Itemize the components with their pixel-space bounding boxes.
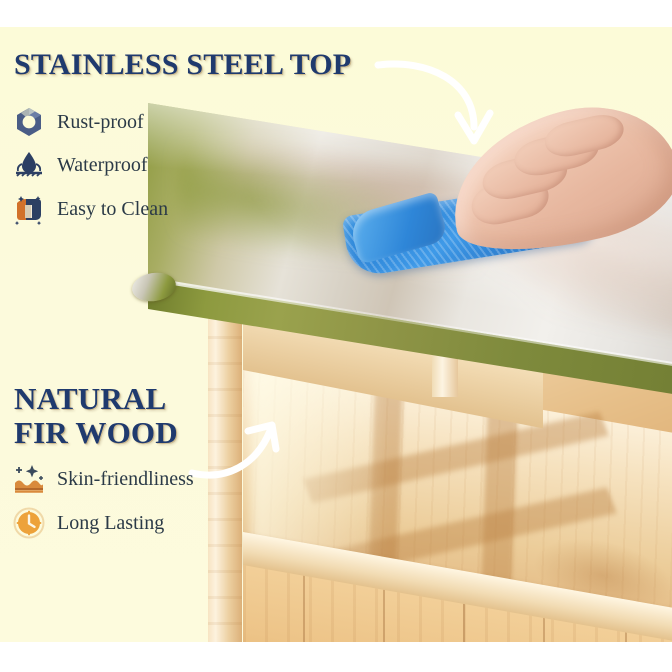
page-title-wood-line2: FIR WOOD (14, 416, 178, 450)
clock-icon (12, 506, 46, 540)
infographic-canvas: STAINLESS STEEL TOP Rust-proof Waterproo… (0, 0, 672, 672)
curved-down-arrow-icon (370, 55, 500, 165)
cleaning-hand-sparkle-icon (12, 192, 46, 226)
cabinet-slat-seam (463, 604, 465, 642)
feature-label: Rust-proof (57, 111, 144, 134)
page-title-steel: STAINLESS STEEL TOP (14, 48, 351, 82)
feature-rust-proof: Rust-proof (12, 105, 144, 139)
hexagon-nut-icon (12, 105, 46, 139)
feature-long-lasting: Long Lasting (12, 506, 164, 540)
sparkle-wave-icon (12, 462, 46, 496)
feature-label: Long Lasting (57, 512, 164, 535)
cabinet-slat-seam (625, 632, 627, 642)
cabinet-slat-seam (543, 618, 545, 642)
feature-skin-friendliness: Skin-friendliness (12, 462, 194, 496)
feature-label: Skin-friendliness (57, 468, 194, 491)
feature-waterproof: Waterproof (12, 148, 148, 182)
cabinet-slat-seam (303, 576, 305, 642)
feature-label: Easy to Clean (57, 198, 168, 221)
page-title-wood-line1: NATURAL (14, 382, 178, 416)
feature-label: Waterproof (57, 154, 148, 177)
water-droplet-repel-icon (12, 148, 46, 182)
cabinet-slat-seam (383, 590, 385, 642)
feature-easy-to-clean: Easy to Clean (12, 192, 168, 226)
curved-up-arrow-icon (186, 395, 316, 485)
page-title-wood: NATURAL FIR WOOD (14, 382, 178, 450)
